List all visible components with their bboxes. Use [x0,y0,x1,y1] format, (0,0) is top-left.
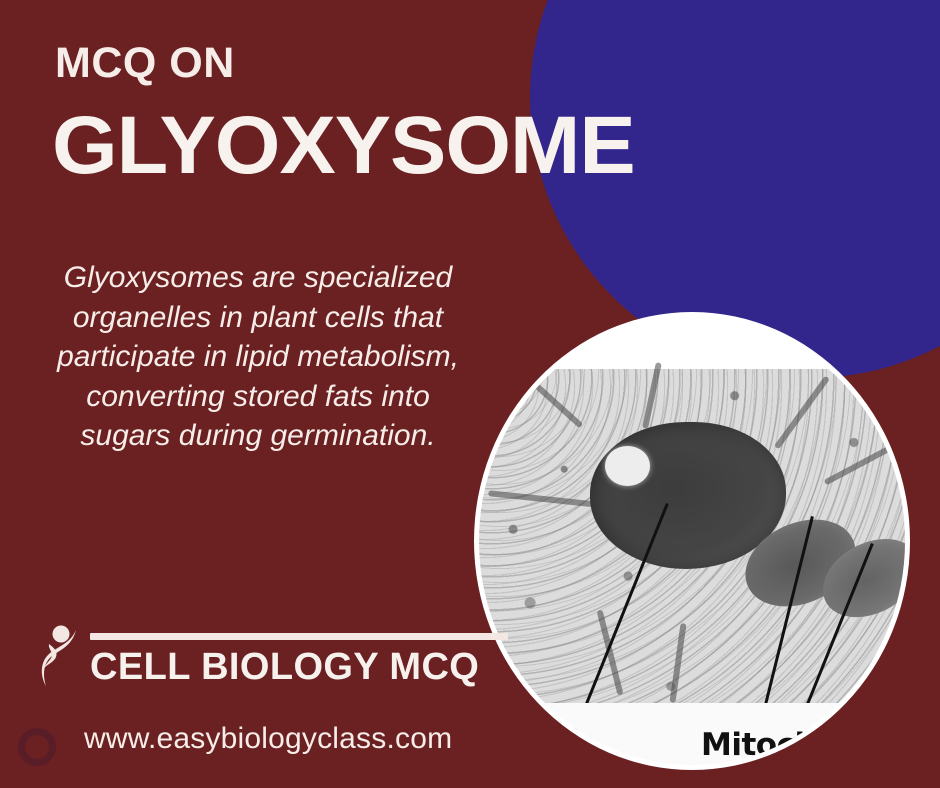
page-title: GLYOXYSOME [52,104,635,188]
micrograph-inner: y e Mitoch [479,317,905,765]
micrograph-circle: y e Mitoch [479,317,905,765]
website-url[interactable]: www.easybiologyclass.com [84,722,452,756]
micrograph-bottom-band [479,703,905,765]
micrograph-top-band [479,317,905,369]
micrograph-label-bottom-right: Mitoch [701,727,816,763]
poster-canvas: MCQ ON GLYOXYSOME Glyoxysomes are specia… [0,0,940,788]
brand-name: CELL BIOLOGY MCQ [90,646,479,689]
description-paragraph: Glyoxysomes are specialized organelles i… [38,258,478,456]
brand-block: CELL BIOLOGY MCQ [36,622,486,692]
page-kicker: MCQ ON [55,42,235,85]
micrograph-label-bottom-left: e [581,730,601,765]
crystalloid-core [605,446,650,486]
brand-divider-rule [90,633,508,640]
micrograph-photo [479,369,905,703]
running-person-logo-icon [36,624,92,692]
micrograph-label-top: y [551,331,570,366]
watermark-ring-icon [18,728,56,766]
